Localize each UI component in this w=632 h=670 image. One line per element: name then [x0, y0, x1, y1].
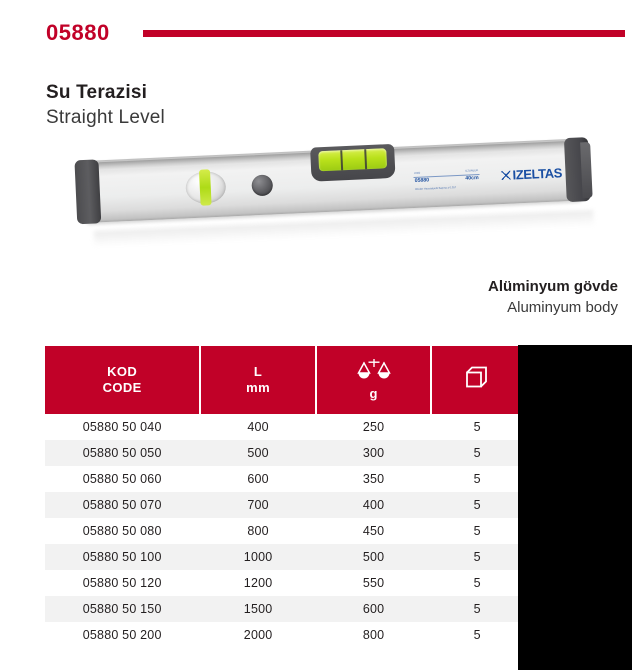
cell-code: 05880 50 120 [45, 576, 199, 590]
table-row: 05880 50 120 1200 550 5 [45, 570, 522, 596]
cell-length: 1500 [201, 602, 315, 616]
column-header-code-tr: KOD [107, 364, 137, 380]
page-header: 05880 [0, 0, 632, 60]
table-row: 05880 50 080 800 450 5 [45, 518, 522, 544]
table-row: 05880 50 200 2000 800 5 [45, 622, 522, 648]
column-header-weight-unit: g [369, 386, 377, 402]
cell-weight: 300 [317, 446, 431, 460]
product-printed-label: KOD UZUNLUK 05880 40cm Olculer Hassasiye… [413, 169, 480, 198]
column-header-packaging [432, 346, 522, 414]
cell-length: 1200 [201, 576, 315, 590]
level-horizontal-vial [318, 148, 387, 171]
cell-weight: 250 [317, 420, 431, 434]
product-title-en: Straight Level [46, 105, 446, 130]
label-length-caption: UZUNLUK [465, 169, 478, 173]
black-overlay-block [518, 345, 632, 670]
cell-pack: 5 [432, 420, 522, 434]
cell-length: 2000 [201, 628, 315, 642]
cell-pack: 5 [432, 446, 522, 460]
cell-weight: 550 [317, 576, 431, 590]
column-header-length-unit: mm [246, 380, 270, 396]
product-code-heading: 05880 [46, 20, 110, 46]
cell-pack: 5 [432, 524, 522, 538]
cell-weight: 400 [317, 498, 431, 512]
header-red-rule [143, 30, 625, 37]
table-header-row: KOD CODE L mm g [45, 346, 522, 414]
brand-name: IZELTAS [512, 165, 562, 182]
column-header-length-symbol: L [254, 364, 262, 380]
label-code-caption: KOD [414, 172, 420, 175]
product-image: KOD UZUNLUK 05880 40cm Olculer Hassasiye… [60, 145, 600, 260]
cell-weight: 800 [317, 628, 431, 642]
cell-pack: 5 [432, 550, 522, 564]
column-header-code: KOD CODE [45, 346, 199, 414]
cell-code: 05880 50 200 [45, 628, 199, 642]
column-header-weight: g [317, 346, 431, 414]
cell-code: 05880 50 150 [45, 602, 199, 616]
cell-weight: 450 [317, 524, 431, 538]
material-note: Alüminyum gövde Aluminyum body [488, 276, 618, 318]
brand-mark-icon [501, 171, 510, 180]
cell-weight: 600 [317, 602, 431, 616]
level-end-cap-right-face [580, 142, 593, 198]
cell-code: 05880 50 070 [45, 498, 199, 512]
cell-code: 05880 50 050 [45, 446, 199, 460]
material-note-en: Aluminyum body [488, 297, 618, 318]
product-title-block: Su Terazisi Straight Level [46, 80, 446, 130]
table-row: 05880 50 150 1500 600 5 [45, 596, 522, 622]
table-row: 05880 50 040 400 250 5 [45, 414, 522, 440]
specification-table: KOD CODE L mm g [45, 346, 522, 648]
cell-pack: 5 [432, 576, 522, 590]
column-header-length: L mm [201, 346, 315, 414]
cell-pack: 5 [432, 602, 522, 616]
cell-length: 400 [201, 420, 315, 434]
cell-length: 700 [201, 498, 315, 512]
table-row: 05880 50 070 700 400 5 [45, 492, 522, 518]
cell-length: 600 [201, 472, 315, 486]
cell-pack: 5 [432, 472, 522, 486]
cell-code: 05880 50 080 [45, 524, 199, 538]
package-box-icon [464, 365, 490, 395]
cell-length: 1000 [201, 550, 315, 564]
column-header-code-en: CODE [103, 380, 142, 396]
cell-code: 05880 50 060 [45, 472, 199, 486]
cell-code: 05880 50 040 [45, 420, 199, 434]
product-title-tr: Su Terazisi [46, 80, 446, 105]
label-code-value: 05880 [415, 177, 430, 184]
balance-scale-icon [357, 358, 391, 384]
label-accuracy-note: Olculer Hassasiyetli Sapma ± 0,057 [415, 186, 456, 191]
cell-pack: 5 [432, 498, 522, 512]
brand-logo: IZELTAS [501, 165, 562, 183]
cell-weight: 500 [317, 550, 431, 564]
table-row: 05880 50 060 600 350 5 [45, 466, 522, 492]
cell-weight: 350 [317, 472, 431, 486]
cell-length: 500 [201, 446, 315, 460]
table-row: 05880 50 100 1000 500 5 [45, 544, 522, 570]
material-note-tr: Alüminyum gövde [488, 276, 618, 297]
table-body: 05880 50 040 400 250 5 05880 50 050 500 … [45, 414, 522, 648]
level-end-cap-left [74, 159, 101, 224]
cell-length: 800 [201, 524, 315, 538]
table-row: 05880 50 050 500 300 5 [45, 440, 522, 466]
label-length-value: 40cm [465, 175, 479, 182]
cell-pack: 5 [432, 628, 522, 642]
cell-code: 05880 50 100 [45, 550, 199, 564]
level-vertical-vial [199, 169, 212, 205]
